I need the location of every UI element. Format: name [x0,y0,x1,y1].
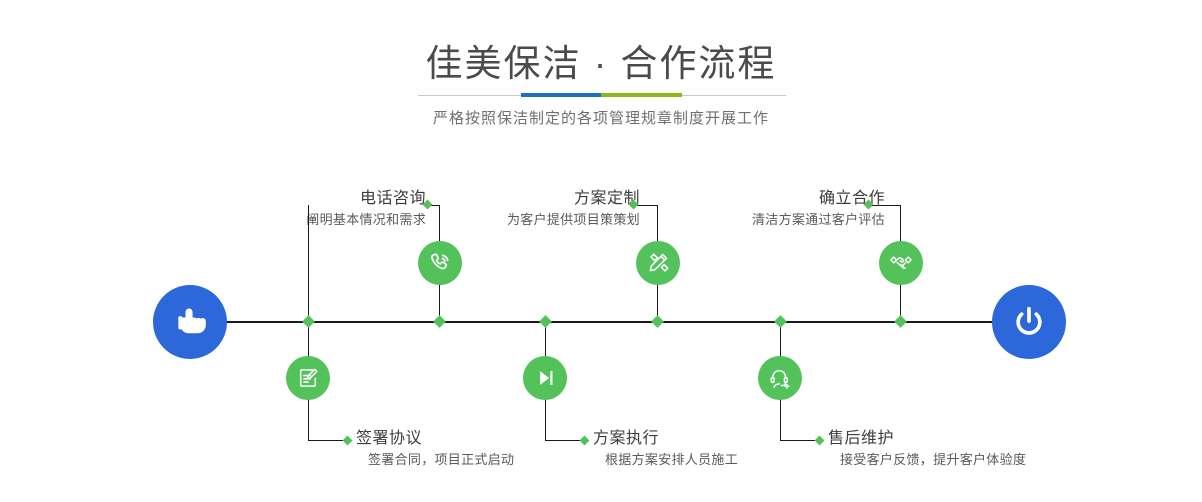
connector-elbow-5 [869,205,900,206]
step-desc-sign-agreement: 签署合同，项目正式启动 [356,450,514,470]
flow-diagram-canvas: 佳美保洁 · 合作流程 严格按照保洁制定的各项管理规章制度开展工作 [0,0,1202,502]
handshake-icon [888,250,914,276]
connector-elbow-2 [308,440,346,441]
header-divider-blue-segment [521,93,601,97]
step-desc-phone-consultation: 阐明基本情况和需求 [306,210,426,230]
phone-call-icon [427,250,453,276]
step-icon-plan-customization[interactable] [636,241,680,285]
pencil-ruler-icon [645,250,671,276]
connector-stem-1 [308,205,309,322]
step-label-establish-cooperation: 确立合作 清洁方案通过客户评估 [752,188,885,230]
play-execute-icon [532,365,558,391]
label-marker-2 [343,436,353,446]
axis-marker-1 [302,315,315,328]
step-icon-plan-execution[interactable] [523,356,567,400]
connector-elbow-6 [780,440,818,441]
axis-marker-3 [539,315,552,328]
document-pen-icon [295,365,321,391]
step-label-plan-execution: 方案执行 根据方案安排人员施工 [593,428,738,470]
pointing-hand-icon [170,302,210,342]
step-label-after-sales-maintenance: 售后维护 接受客户反馈，提升客户体验度 [828,428,1026,470]
step-icon-establish-cooperation[interactable] [879,241,923,285]
step-desc-plan-execution: 根据方案安排人员施工 [593,450,738,470]
step-title-plan-execution: 方案执行 [593,428,738,450]
axis-marker-1b [433,315,446,328]
label-marker-6 [815,436,825,446]
step-title-phone-consultation: 电话咨询 [306,188,426,210]
step-icon-sign-agreement[interactable] [286,356,330,400]
step-title-after-sales-maintenance: 售后维护 [828,428,1026,450]
step-label-sign-agreement: 签署协议 签署合同，项目正式启动 [356,428,514,470]
timeline-start-node[interactable] [153,285,227,359]
step-desc-plan-customization: 为客户提供项目策策划 [507,210,640,230]
step-title-plan-customization: 方案定制 [507,188,640,210]
connector-elbow-4 [545,440,583,441]
step-desc-after-sales-maintenance: 接受客户反馈，提升客户体验度 [828,450,1026,470]
axis-marker-5 [774,315,787,328]
page-subtitle: 严格按照保洁制定的各项管理规章制度开展工作 [0,107,1202,128]
step-icon-phone-consultation[interactable] [418,241,462,285]
header-divider-green-segment [601,93,682,97]
page-title: 佳美保洁 · 合作流程 [0,33,1202,87]
label-marker-4 [580,436,590,446]
headset-support-icon [767,365,793,391]
step-title-sign-agreement: 签署协议 [356,428,514,450]
axis-marker-5b [894,315,907,328]
power-button-icon [1009,302,1049,342]
step-label-phone-consultation: 电话咨询 阐明基本情况和需求 [306,188,426,230]
axis-marker-3b [651,315,664,328]
timeline-end-node[interactable] [992,285,1066,359]
step-label-plan-customization: 方案定制 为客户提供项目策策划 [507,188,640,230]
step-icon-after-sales-maintenance[interactable] [758,356,802,400]
step-desc-establish-cooperation: 清洁方案通过客户评估 [752,210,885,230]
